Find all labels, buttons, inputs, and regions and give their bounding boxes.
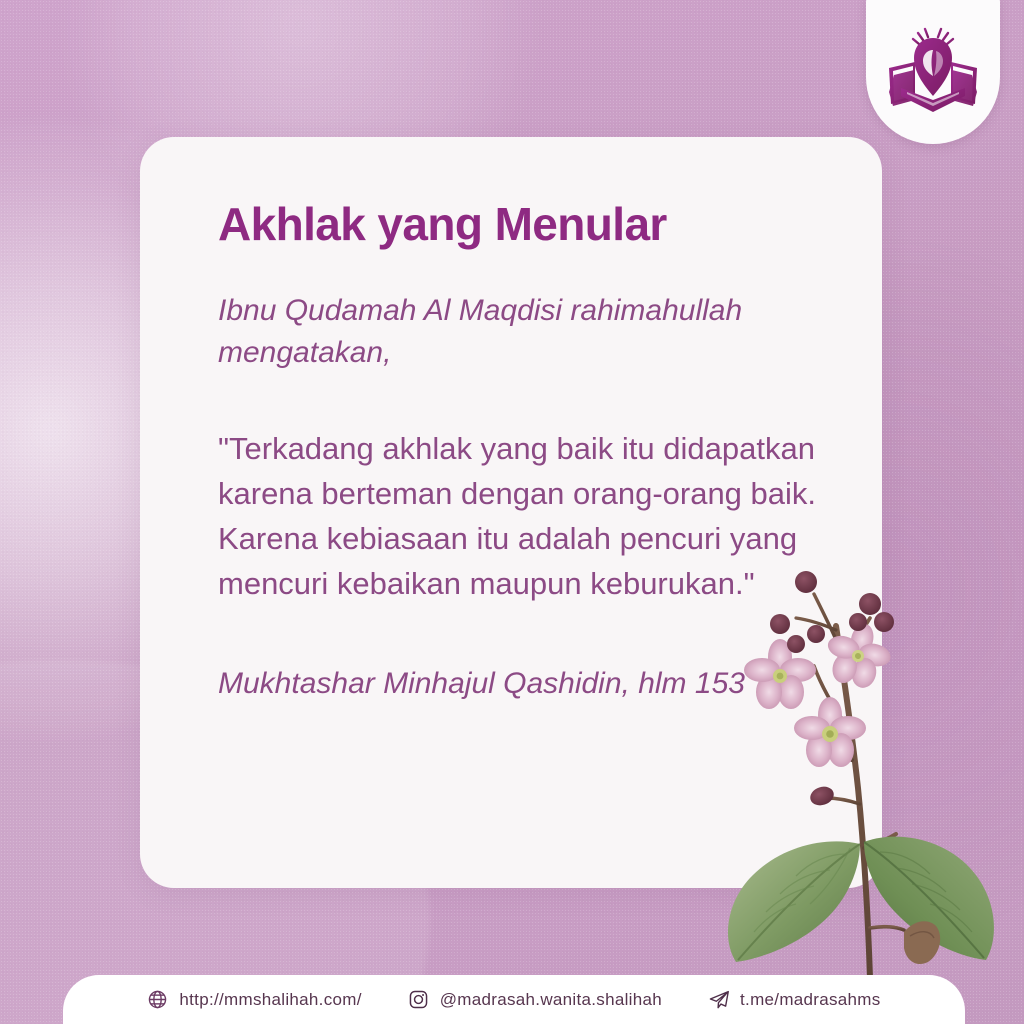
instagram-icon xyxy=(408,989,429,1010)
madrasah-wanita-shalihah-logo-icon xyxy=(881,20,985,124)
globe-icon xyxy=(147,989,168,1010)
footer-item-website[interactable]: http://mmshalihah.com/ xyxy=(147,989,361,1010)
footer-item-instagram[interactable]: @madrasah.wanita.shalihah xyxy=(408,989,662,1010)
footer-item-telegram[interactable]: t.me/madrasahms xyxy=(708,989,881,1010)
footer-label-instagram: @madrasah.wanita.shalihah xyxy=(440,990,662,1010)
footer-label-telegram: t.me/madrasahms xyxy=(740,990,881,1010)
poster-canvas: Akhlak yang Menular Ibnu Qudamah Al Maqd… xyxy=(0,0,1024,1024)
logo-badge xyxy=(866,0,1000,144)
footer-bar: http://mmshalihah.com/ @madrasah.wanita.… xyxy=(63,975,965,1024)
quote-text: "Terkadang akhlak yang baik itu didapatk… xyxy=(218,427,818,607)
quote-card: Akhlak yang Menular Ibnu Qudamah Al Maqd… xyxy=(140,137,882,888)
page-title: Akhlak yang Menular xyxy=(218,199,820,250)
telegram-icon xyxy=(708,989,729,1010)
footer-label-website: http://mmshalihah.com/ xyxy=(179,990,361,1010)
citation-text: Mukhtashar Minhajul Qashidin, hlm 153 xyxy=(218,663,778,706)
attribution-text: Ibnu Qudamah Al Maqdisi rahimahullah men… xyxy=(218,290,778,375)
